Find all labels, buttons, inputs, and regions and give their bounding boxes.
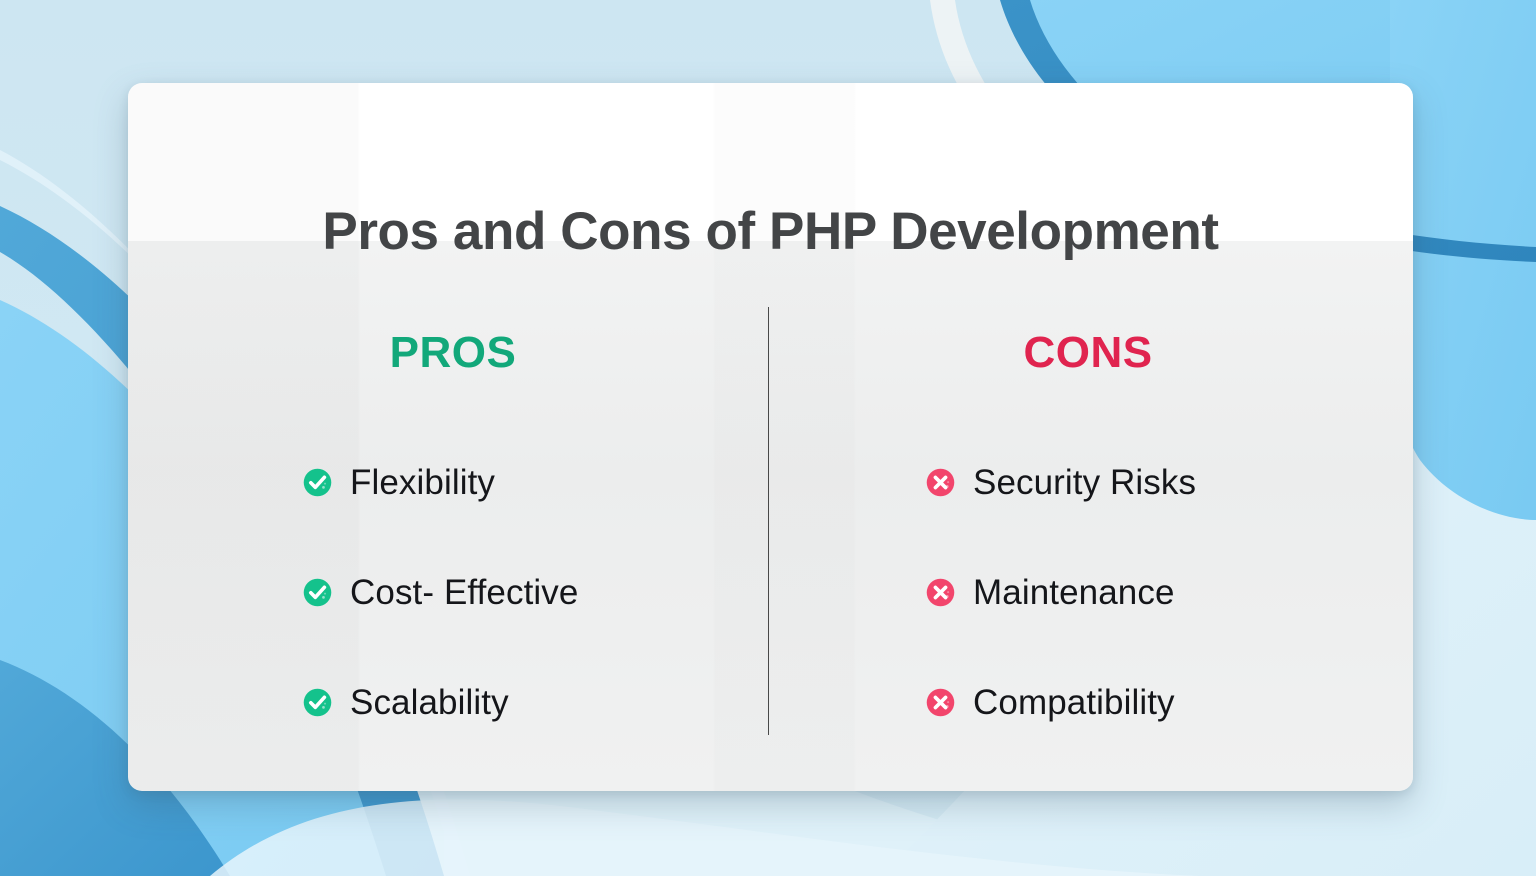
- list-item: Learning Curve: [926, 757, 1214, 791]
- cons-list: Security Risks Maintenance: [926, 427, 1214, 791]
- check-circle-icon: [303, 578, 332, 607]
- cons-heading: CONS: [773, 331, 1403, 375]
- list-item-label: Maintenance: [973, 575, 1175, 610]
- column-divider: [768, 307, 769, 735]
- list-item-label: Flexibility: [350, 465, 495, 500]
- page-title: Pros and Cons of PHP Development: [128, 201, 1413, 262]
- cons-column: CONS Security Risks: [773, 331, 1403, 375]
- list-item-label: Compatibility: [973, 685, 1175, 720]
- list-item: Cost- Effective: [303, 537, 628, 647]
- list-item-label: Scalability: [350, 685, 509, 720]
- list-item: Scalability: [303, 647, 628, 757]
- check-circle-icon: [303, 468, 332, 497]
- pros-list: Flexibility Cost- Effective: [303, 427, 628, 791]
- infographic-canvas: Pros and Cons of PHP Development PROS Fl…: [0, 0, 1536, 876]
- list-item-label: Cost- Effective: [350, 575, 578, 610]
- list-item-label: Security Risks: [973, 465, 1196, 500]
- x-circle-icon: [926, 468, 955, 497]
- list-item: Flexibility: [303, 427, 628, 537]
- list-item: Maintenance: [926, 537, 1214, 647]
- list-item: Large Community: [303, 757, 628, 791]
- list-item: Security Risks: [926, 427, 1214, 537]
- x-circle-icon: [926, 688, 955, 717]
- pros-cons-card: Pros and Cons of PHP Development PROS Fl…: [128, 83, 1413, 791]
- pros-heading: PROS: [138, 331, 768, 375]
- check-circle-icon: [303, 688, 332, 717]
- x-circle-icon: [926, 578, 955, 607]
- pros-column: PROS Flexibility: [138, 331, 768, 375]
- list-item: Compatibility: [926, 647, 1214, 757]
